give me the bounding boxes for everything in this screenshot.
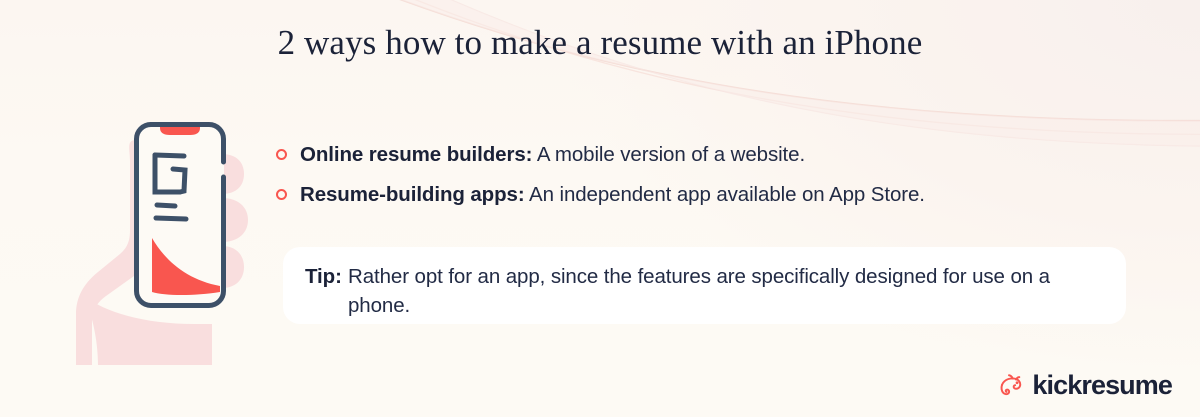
text-line-long xyxy=(156,218,186,219)
tip-label: Tip: xyxy=(305,262,342,291)
kickresume-wordmark: kickresume xyxy=(1032,372,1172,399)
kickresume-chameleon-icon xyxy=(994,370,1024,400)
infographic-canvas: 2 ways how to make a resume with an iPho… xyxy=(0,0,1200,417)
tip-callout-box: Tip:Rather opt for an app, since the fea… xyxy=(283,247,1126,324)
tip-text: Tip:Rather opt for an app, since the fea… xyxy=(305,262,1106,320)
bullet-item-text: Resume-building apps: An independent app… xyxy=(300,182,925,208)
list-item: Online resume builders: A mobile version… xyxy=(276,142,1156,168)
bullet-item-lead: Online resume builders: xyxy=(300,143,532,166)
bullet-item-lead: Resume-building apps: xyxy=(300,183,525,206)
bullet-item-rest: A mobile version of a website. xyxy=(532,143,805,166)
text-line-short xyxy=(157,205,175,206)
list-item: Resume-building apps: An independent app… xyxy=(276,182,1156,208)
bullet-item-rest: An independent app available on App Stor… xyxy=(525,183,925,206)
ring-bullet-icon xyxy=(276,149,287,160)
ring-bullet-icon xyxy=(276,189,287,200)
bullet-item-text: Online resume builders: A mobile version… xyxy=(300,142,805,168)
page-title: 2 ways how to make a resume with an iPho… xyxy=(0,23,1200,63)
tip-body: Rather opt for an app, since the feature… xyxy=(348,265,1050,317)
hand-holding-phone-illustration xyxy=(62,100,277,365)
bullet-list: Online resume builders: A mobile version… xyxy=(276,142,1156,222)
kickresume-logo[interactable]: kickresume xyxy=(994,370,1172,400)
